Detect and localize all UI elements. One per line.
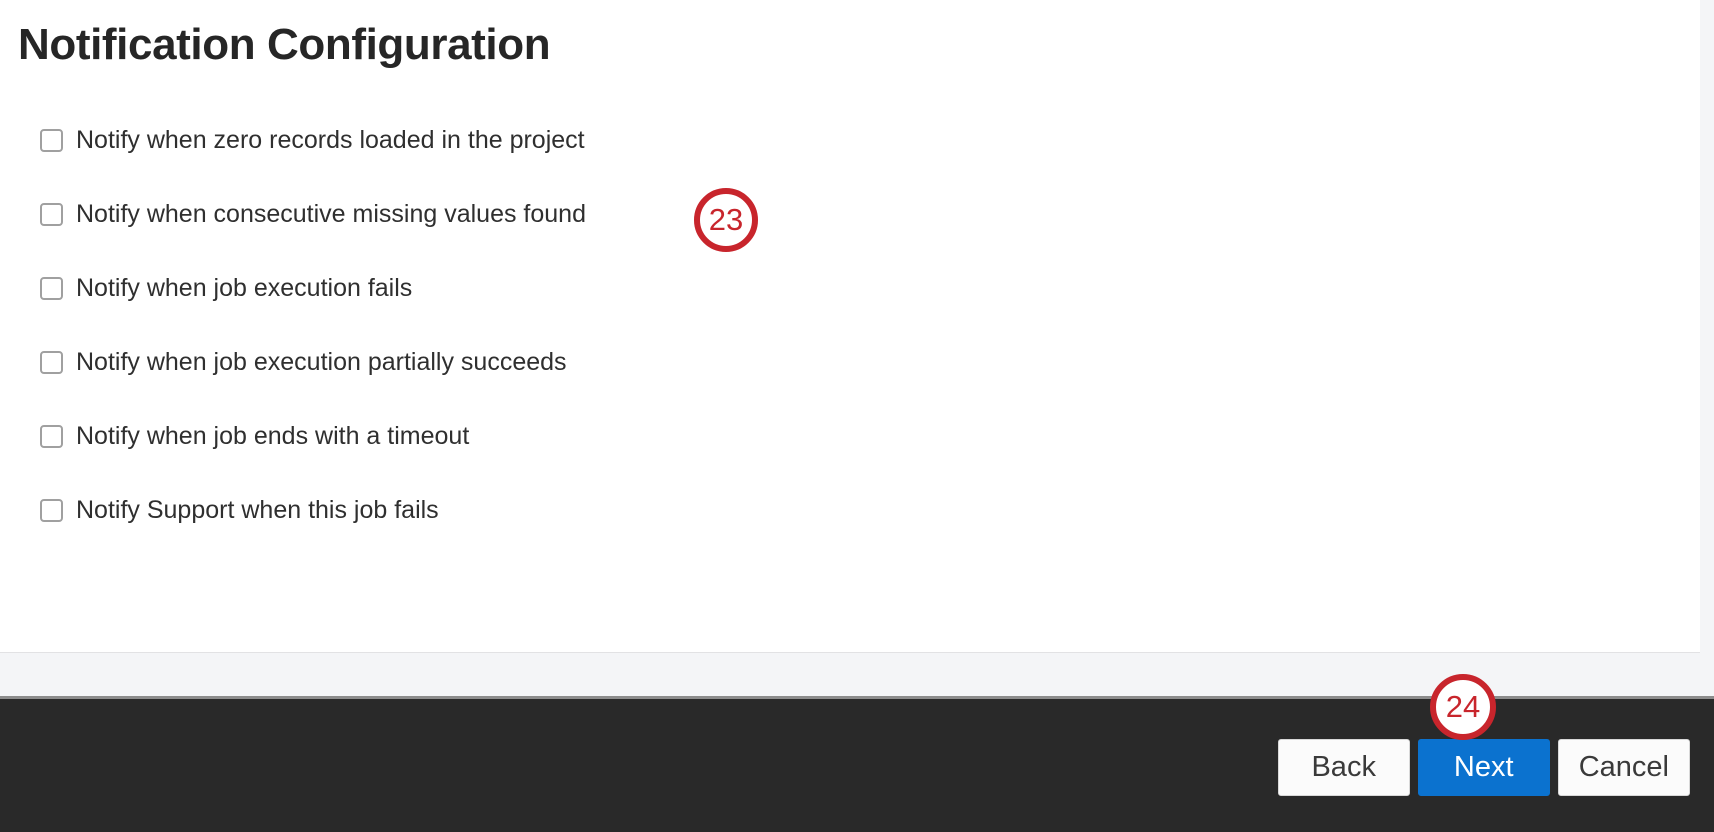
notification-option-partially-succeeds[interactable]: Notify when job execution partially succ… <box>40 340 940 384</box>
notification-option-consecutive-missing-values[interactable]: Notify when consecutive missing values f… <box>40 192 940 236</box>
notification-option-job-execution-fails[interactable]: Notify when job execution fails <box>40 266 940 310</box>
notification-option-label: Notify when job ends with a timeout <box>76 424 469 449</box>
cancel-button[interactable]: Cancel <box>1558 739 1690 796</box>
notification-option-label: Notify when zero records loaded in the p… <box>76 128 585 153</box>
annotation-badge-24: 24 <box>1430 674 1496 740</box>
notification-option-label: Notify Support when this job fails <box>76 498 439 523</box>
checkbox-icon[interactable] <box>40 203 63 226</box>
notification-options-list: Notify when zero records loaded in the p… <box>40 118 940 562</box>
notification-option-label: Notify when consecutive missing values f… <box>76 202 586 227</box>
annotation-badge-23: 23 <box>694 188 758 252</box>
notification-option-label: Notify when job execution partially succ… <box>76 350 567 375</box>
footer-button-group: Back Next Cancel <box>1278 739 1690 796</box>
notification-option-label: Notify when job execution fails <box>76 276 412 301</box>
content-panel: Notification Configuration Notify when z… <box>0 0 1700 652</box>
next-button[interactable]: Next <box>1418 739 1550 796</box>
back-button[interactable]: Back <box>1278 739 1410 796</box>
checkbox-icon[interactable] <box>40 499 63 522</box>
checkbox-icon[interactable] <box>40 425 63 448</box>
notification-option-job-timeout[interactable]: Notify when job ends with a timeout <box>40 414 940 458</box>
notification-option-notify-support[interactable]: Notify Support when this job fails <box>40 488 940 532</box>
checkbox-icon[interactable] <box>40 351 63 374</box>
notification-option-zero-records[interactable]: Notify when zero records loaded in the p… <box>40 118 940 162</box>
notification-configuration-screen: Notification Configuration Notify when z… <box>0 0 1714 832</box>
checkbox-icon[interactable] <box>40 129 63 152</box>
checkbox-icon[interactable] <box>40 277 63 300</box>
page-title: Notification Configuration <box>18 21 550 69</box>
